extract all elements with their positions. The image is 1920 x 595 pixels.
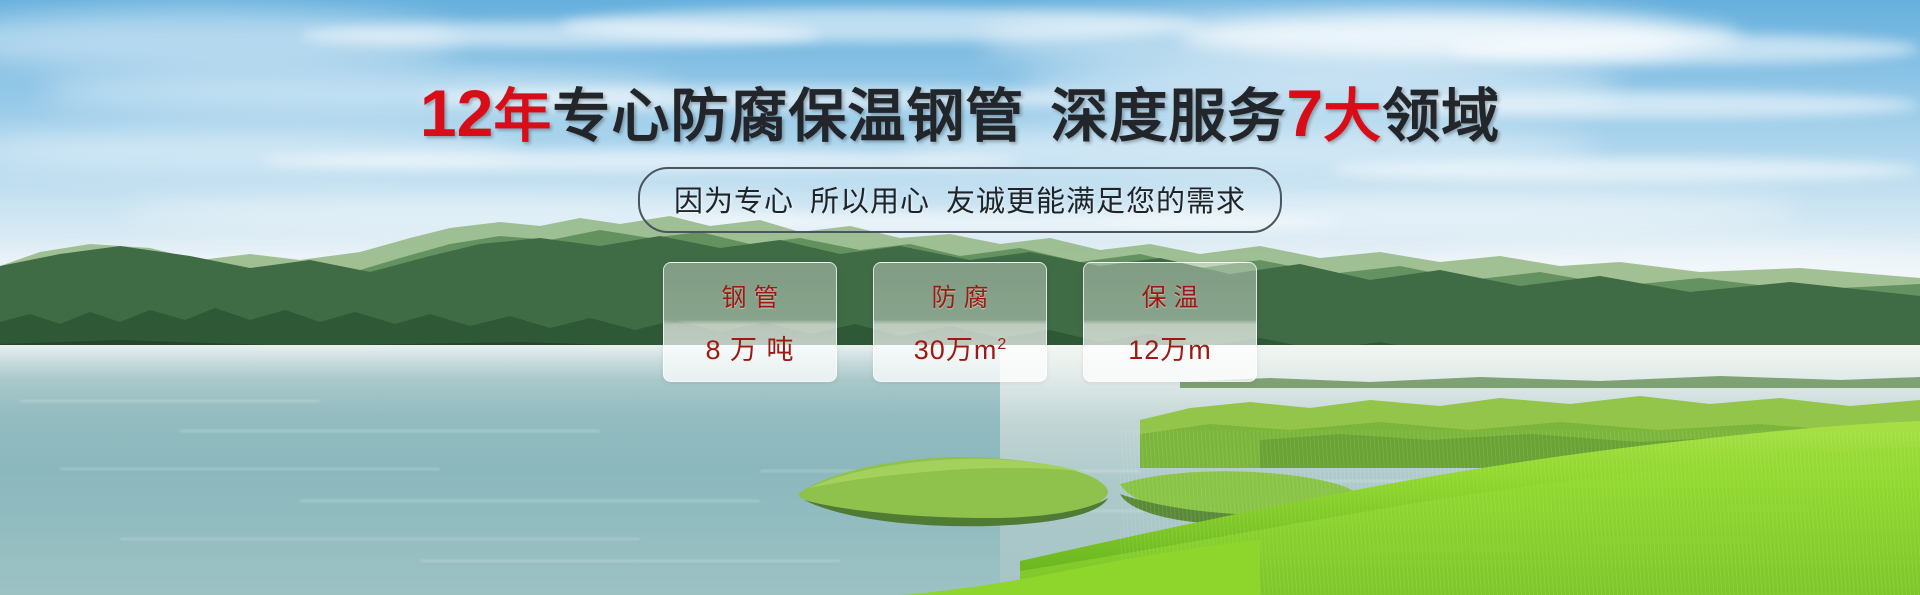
stat-card-list: 钢管 8 万 吨 防腐 30万m2 保温 12万m xyxy=(663,262,1257,382)
subtitle-part2: 所以用心 xyxy=(810,186,930,218)
subtitle-part3: 友诚更能满足您的需求 xyxy=(946,186,1246,218)
headline-fields-number: 7 xyxy=(1286,76,1323,150)
headline-fields-unit: 大 xyxy=(1323,84,1382,149)
subtitle-part1: 因为专心 xyxy=(674,186,794,218)
stat-card-anticorrosion: 防腐 30万m2 xyxy=(873,262,1047,382)
headline: 12年专心防腐保温钢管深度服务7大领域 xyxy=(0,80,1920,146)
stat-card-steel-pipe: 钢管 8 万 吨 xyxy=(663,262,837,382)
stat-card-label: 保温 xyxy=(1134,278,1205,314)
headline-service-text: 深度服务 xyxy=(1050,84,1286,149)
stat-card-value-text: 8 万 吨 xyxy=(705,335,794,365)
hero-banner: 12年专心防腐保温钢管深度服务7大领域 因为专心所以用心友诚更能满足您的需求 钢… xyxy=(0,0,1920,595)
stat-card-superscript: 2 xyxy=(997,336,1006,353)
grass-left-tip xyxy=(900,540,1260,595)
stat-card-value: 8 万 吨 xyxy=(705,328,794,367)
stat-card-value: 12万m xyxy=(1128,328,1212,367)
headline-main-text: 专心防腐保温钢管 xyxy=(552,84,1024,149)
stat-card-value-text: 30万m xyxy=(914,335,998,365)
headline-years-unit: 年 xyxy=(493,84,552,149)
stat-card-label: 钢管 xyxy=(714,278,785,314)
stat-card-value: 30万m2 xyxy=(914,328,1006,367)
stat-card-insulation: 保温 12万m xyxy=(1083,262,1257,382)
subtitle-pill: 因为专心所以用心友诚更能满足您的需求 xyxy=(638,167,1282,233)
headline-years-number: 12 xyxy=(420,76,493,150)
stat-card-label: 防腐 xyxy=(924,278,995,314)
stat-card-value-text: 12万m xyxy=(1128,335,1212,365)
headline-fields-text: 领域 xyxy=(1382,84,1500,149)
